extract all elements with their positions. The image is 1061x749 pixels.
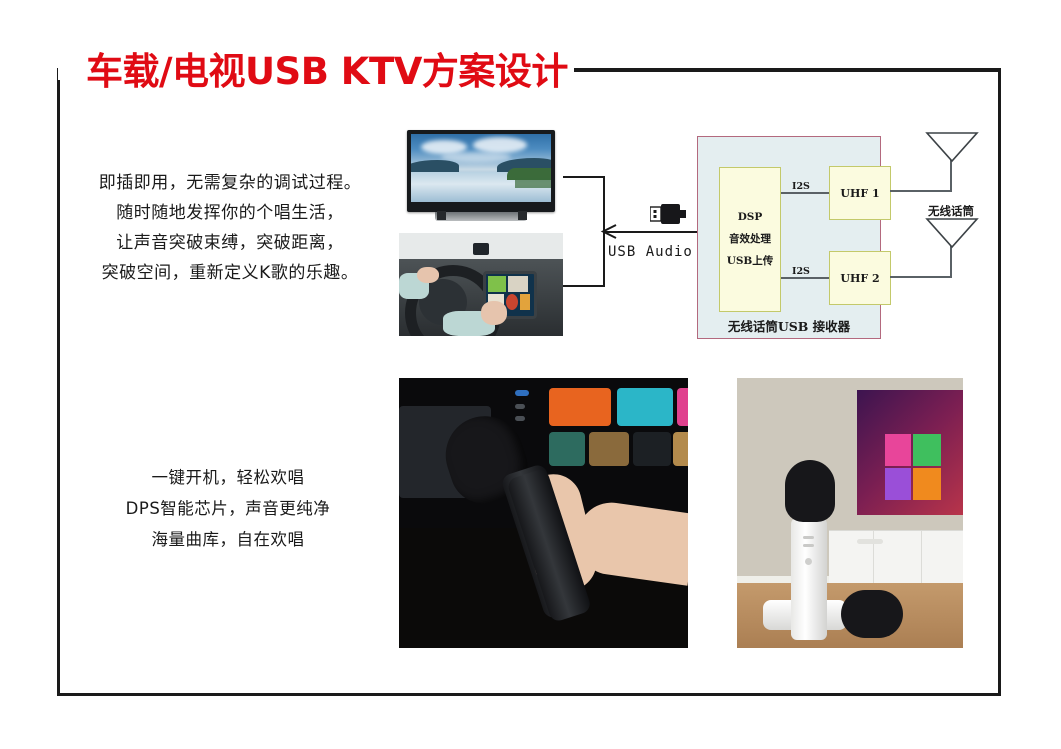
uhf1-antenna-feed xyxy=(890,190,952,192)
dsp-label-1: DSP xyxy=(720,211,780,224)
car-dashboard-photo xyxy=(399,233,563,336)
features-copy-line-3: 海量曲库，自在欢唱 xyxy=(78,524,378,555)
antenna-icon-2 xyxy=(925,217,979,249)
i2s-label-1: I2S xyxy=(790,181,812,192)
uhf2-antenna-feed xyxy=(890,276,952,278)
car-connector-line xyxy=(563,285,605,287)
tv-stand-bar xyxy=(435,212,527,221)
usb-audio-arrow-icon xyxy=(600,223,618,240)
tv-leg-left xyxy=(437,211,446,220)
living-room-microphones-photo xyxy=(737,378,963,648)
intro-copy-line-2: 随时随地发挥你的个唱生活， xyxy=(80,198,380,228)
dsp-to-uhf2-wire xyxy=(781,277,829,279)
wireless-mic-label: 无线话筒 xyxy=(928,203,974,219)
i2s-label-2: I2S xyxy=(790,266,812,277)
antenna-icon-1 xyxy=(925,131,979,163)
dsp-label-2: 音效处理 xyxy=(720,233,780,246)
dsp-label-3: USB上传 xyxy=(720,255,780,268)
receiver-block-diagram: DSP 音效处理 USB上传 UHF 1 UHF 2 I2S I2S xyxy=(697,136,881,339)
tv-leg-right xyxy=(518,211,527,220)
tv-screen-landscape xyxy=(411,134,551,202)
microphone-1-foam-head xyxy=(785,460,835,522)
flat-screen-tv-photo xyxy=(399,126,563,227)
usb-audio-label: USB Audio xyxy=(608,244,693,260)
intro-copy-line-3: 让声音突破束缚，突破距离， xyxy=(80,228,380,258)
tv-bezel xyxy=(407,130,555,212)
usb-audio-line xyxy=(605,231,697,233)
car-dashcam xyxy=(473,243,489,255)
intro-copy-line-4: 突破空间，重新定义K歌的乐趣。 xyxy=(80,258,380,288)
dsp-to-uhf1-wire xyxy=(781,192,829,194)
features-copy-line-1: 一键开机，轻松欢唱 xyxy=(78,462,378,493)
uhf1-antenna-stem xyxy=(950,160,952,192)
tv-connector-line xyxy=(563,176,605,178)
uhf2-block: UHF 2 xyxy=(829,251,891,305)
uhf2-antenna-stem xyxy=(950,246,952,278)
wall-mounted-tv xyxy=(857,390,963,515)
page-title: 车载/电视USB KTV方案设计 xyxy=(86,41,568,95)
uhf1-block: UHF 1 xyxy=(829,166,891,220)
tv-console-cabinet xyxy=(829,530,963,583)
features-copy-line-2: DPS智能芯片，声音更纯净 xyxy=(78,493,378,524)
slide-root: 车载/电视USB KTV方案设计 即插即用，无需复杂的调试过程。 随时随地发挥你… xyxy=(0,0,1061,749)
microphone-1-handle xyxy=(791,518,827,640)
microphone-2-foam-head xyxy=(841,590,903,638)
usb-connector-icon xyxy=(650,203,688,225)
diagram-caption: 无线话筒USB 接收器 xyxy=(697,316,881,335)
title-underline-rule xyxy=(574,68,998,72)
intro-copy-block: 即插即用，无需复杂的调试过程。 随时随地发挥你的个唱生活， 让声音突破束缚，突破… xyxy=(80,168,380,288)
dsp-block: DSP 音效处理 USB上传 xyxy=(719,167,781,312)
microphone-in-car-photo xyxy=(399,378,688,648)
driver-hand-right xyxy=(481,301,507,325)
driver-hand-left xyxy=(417,267,439,283)
intro-copy-line-1: 即插即用，无需复杂的调试过程。 xyxy=(80,168,380,198)
features-copy-block: 一键开机，轻松欢唱 DPS智能芯片，声音更纯净 海量曲库，自在欢唱 xyxy=(78,462,378,555)
